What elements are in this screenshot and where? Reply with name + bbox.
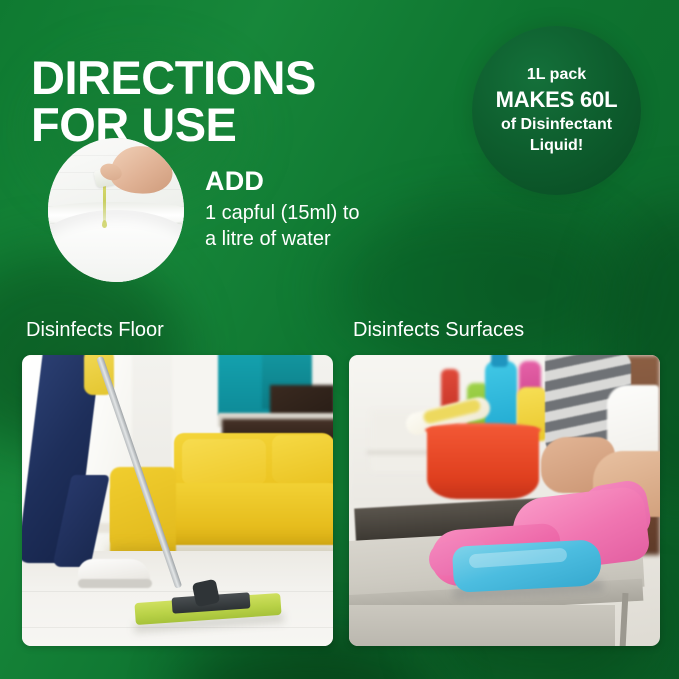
badge-line-of-disinfectant: of Disinfectant xyxy=(501,115,612,136)
page-title: DIRECTIONS FOR USE xyxy=(31,55,316,148)
shoe-sole xyxy=(78,579,152,588)
makes-60l-badge: 1L pack MAKES 60L of Disinfectant Liquid… xyxy=(472,26,641,195)
step-text-block: ADD 1 capful (15ml) to a litre of water xyxy=(205,167,360,252)
counter-front-face xyxy=(349,605,615,646)
photo-disinfects-surfaces xyxy=(349,355,660,646)
background-texture-blotch xyxy=(330,210,630,370)
mop-swivel-joint xyxy=(192,579,220,607)
step-add-row: ADD 1 capful (15ml) to a litre of water xyxy=(48,138,360,282)
white-bowl xyxy=(48,210,184,282)
liquid-stream xyxy=(103,183,106,223)
panel-label-disinfects-floor: Disinfects Floor xyxy=(26,319,164,342)
sofa-cushion xyxy=(272,435,333,483)
photo-disinfects-floor xyxy=(22,355,333,646)
badge-line-pack-size: 1L pack xyxy=(527,65,586,85)
bottle-cap xyxy=(491,355,508,367)
badge-line-makes: MAKES 60L xyxy=(496,87,618,113)
red-bucket xyxy=(427,427,539,499)
capful-pour-photo xyxy=(48,138,184,282)
liquid-drop xyxy=(102,220,107,228)
sofa-cushion xyxy=(182,439,266,485)
panel-label-disinfects-surfaces: Disinfects Surfaces xyxy=(353,319,524,342)
step-title: ADD xyxy=(205,167,360,195)
floor-tile-line xyxy=(22,591,333,592)
directions-for-use-poster: DIRECTIONS FOR USE 1L pack MAKES 60L of … xyxy=(0,0,679,679)
step-description: 1 capful (15ml) to a litre of water xyxy=(205,200,360,253)
badge-line-liquid: Liquid! xyxy=(530,136,583,157)
